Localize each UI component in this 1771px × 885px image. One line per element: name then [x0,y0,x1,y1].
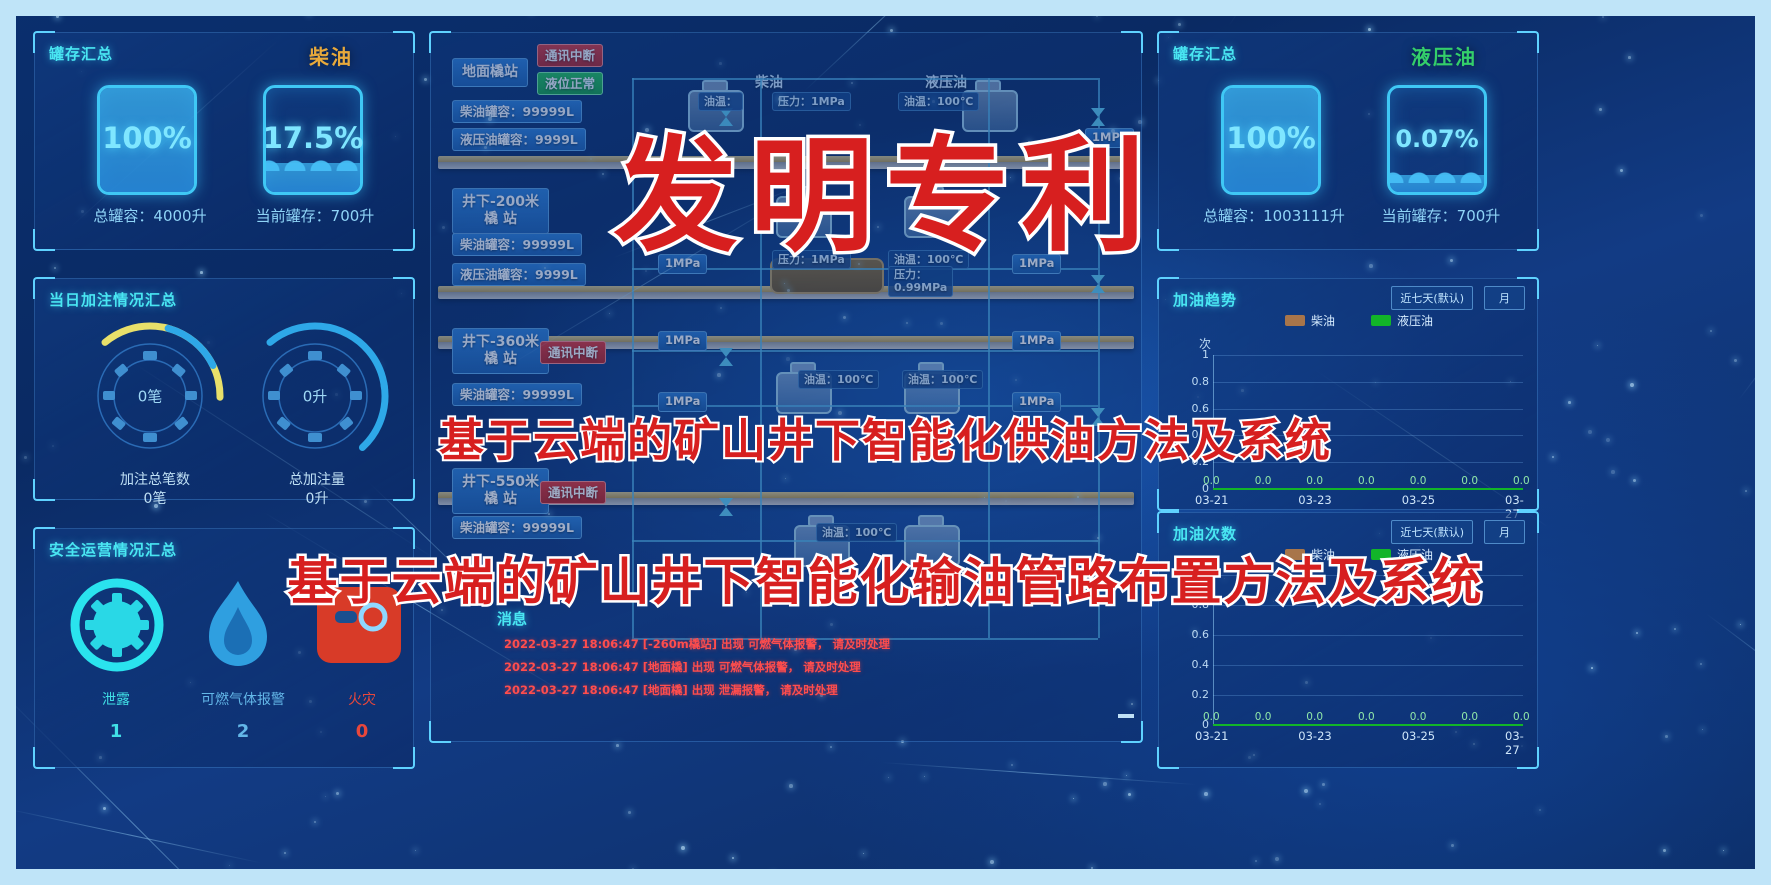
y-axis-tick: 0.6 [1179,628,1209,641]
legend-swatch-diesel [1285,315,1305,326]
corner-decoration [33,747,55,769]
legend-item-diesel[interactable]: 柴油 [1285,312,1335,329]
watermark-line-2: 基于云端的矿山井下智能化输油管路布置方法及系统 [288,542,1484,614]
corner-decoration [33,229,55,251]
corner-decoration [1517,31,1539,53]
panel-title: 安全运营情况汇总 [49,539,177,560]
chart-data-label: 0.0 [1306,711,1323,723]
current-stock-percent: 17.5% [257,121,369,155]
message-log-line: 2022-03-27 18:06:47 [-260m橇站] 出现 可燃气体报警，… [504,636,890,652]
x-axis-tick: 03-23 [1298,729,1331,743]
panel-title: 加油趋势 [1173,289,1237,310]
gear-ring-icon [69,577,165,677]
panel-title: 当日加注情况汇总 [49,289,177,310]
legend-label-diesel: 柴油 [1311,312,1335,329]
chart-data-label: 0.0 [1513,475,1530,487]
chart-data-label: 0.0 [1255,711,1272,723]
flame-icon [193,577,283,677]
current-stock-caption: 当前罐存：700升 [1351,205,1531,226]
safety-item-label-0: 泄露 [61,689,171,709]
corner-decoration [393,229,415,251]
chart-data-label: 0.0 [1461,475,1478,487]
refuel-volume-label-text: 总加注量 [289,472,345,488]
chart-data-label: 0.0 [1410,711,1427,723]
corner-decoration [33,479,55,501]
chart-data-label: 0.0 [1358,711,1375,723]
refuel-volume-sub-text: 0升 [306,491,329,507]
x-axis-tick: 03-25 [1402,493,1435,507]
x-axis-tick: 03-25 [1402,729,1435,743]
safety-item-value-1: 2 [183,721,303,742]
legend-swatch-hydraulic [1371,315,1391,326]
left-daily-refuel-panel: 当日加注情况汇总 [34,278,414,500]
refuel-volume-value: 0升 [240,386,390,407]
panel-title: 罐存汇总 [1173,43,1237,64]
left-tank-summary-panel: 罐存汇总 柴油 100% 总罐容：4000升 17.5% 当前罐存：700升 [34,32,414,250]
tank-wave-decoration [1387,167,1487,183]
corner-decoration [393,277,415,299]
refuel-count-label: 加注总笔数 0笔 [65,471,245,509]
panel-title: 罐存汇总 [49,43,113,64]
corner-decoration [429,31,451,53]
chart-data-label: 0.0 [1203,475,1220,487]
corner-decoration [1121,31,1143,53]
corner-decoration [1517,229,1539,251]
chart-data-label: 0.0 [1255,475,1272,487]
corner-decoration [429,721,451,743]
y-axis-tick: 0.4 [1179,658,1209,671]
refuel-trend-chart-panel: 加油趋势 近七天(默认) 月 柴油 液压油 次 00.20.40.60.810.… [1158,278,1538,510]
chart-data-label: 0.0 [1461,711,1478,723]
y-axis-tick: 1 [1179,348,1209,361]
safety-item-value-2: 0 [307,721,417,742]
legend-item-hydraulic[interactable]: 液压油 [1371,312,1433,329]
chart-data-label: 0.0 [1513,711,1530,723]
tank-fill [266,163,360,192]
range-button-seven-days[interactable]: 近七天(默认) [1391,286,1473,310]
corner-decoration [393,747,415,769]
safety-item-label-1: 可燃气体报警 [183,689,303,709]
x-axis-tick: 03-21 [1195,729,1228,743]
range-button-seven-days[interactable]: 近七天(默认) [1391,520,1473,544]
watermark-headline: 发明专利 [613,95,1157,275]
corner-decoration [1157,489,1179,511]
oil-type-label: 柴油 [309,41,353,70]
right-tank-summary-panel: 罐存汇总 液压油 100% 总罐容：1003111升 0.07% 当前罐存：70… [1158,32,1538,250]
corner-decoration [1121,721,1143,743]
total-capacity-caption: 总罐容：1003111升 [1169,205,1379,226]
refuel-count-sub-text: 0笔 [144,491,167,507]
range-button-month[interactable]: 月 [1484,520,1525,544]
current-stock-caption: 当前罐存：700升 [225,205,405,226]
refuel-count-ring-gauge: 0笔 [75,321,225,471]
legend-label-hydraulic: 液压油 [1397,312,1433,329]
tank-wave-decoration [263,155,363,171]
message-log-line: 2022-03-27 18:06:47 [地面橇] 出现 可燃气体报警， 请及时… [504,659,861,675]
tank-fill [1390,175,1484,192]
safety-item-label-2: 火灾 [307,689,417,709]
watermark-line-1: 基于云端的矿山井下智能化供油方法及系统 [439,404,1332,469]
refuel-count-value: 0笔 [75,386,225,407]
chart-data-label: 0.0 [1358,475,1375,487]
x-axis-tick: 03-23 [1298,493,1331,507]
dashboard-root: 罐存汇总 柴油 100% 总罐容：4000升 17.5% 当前罐存：700升 当… [0,0,1771,885]
corner-decoration [1157,229,1179,251]
chart-data-label: 0.0 [1203,711,1220,723]
total-capacity-percent: 100% [1221,121,1321,155]
corner-decoration [1157,747,1179,769]
current-stock-percent: 0.07% [1381,125,1493,153]
refuel-count-label-text: 加注总笔数 [120,472,190,488]
x-axis-tick: 03-27 [1505,729,1524,757]
chart-data-label: 0.0 [1306,475,1323,487]
oil-type-label: 液压油 [1411,41,1477,70]
range-button-month[interactable]: 月 [1484,286,1525,310]
panel-title: 加油次数 [1173,523,1237,544]
chart-data-label: 0.0 [1410,475,1427,487]
refuel-volume-label: 总加注量 0升 [227,471,407,509]
total-capacity-caption: 总罐容：4000升 [55,205,245,226]
corner-decoration [393,31,415,53]
x-axis-tick: 03-21 [1195,493,1228,507]
refuel-volume-ring-gauge: 0升 [240,321,390,471]
y-axis-tick: 0.8 [1179,375,1209,388]
safety-item-value-0: 1 [61,721,171,742]
message-log-line: 2022-03-27 18:06:47 [地面橇] 出现 泄漏报警， 请及时处理 [504,682,838,698]
y-axis-tick: 0.2 [1179,688,1209,701]
total-capacity-percent: 100% [97,121,197,155]
collapse-handle[interactable] [1118,714,1134,718]
